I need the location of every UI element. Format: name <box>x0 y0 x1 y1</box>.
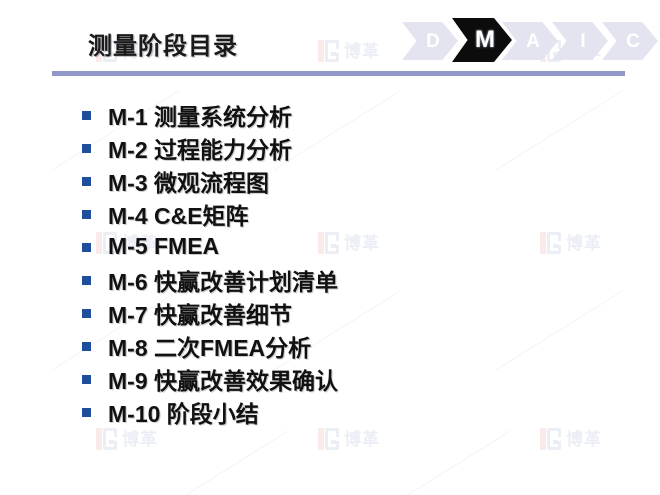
watermark-logo: 博革 <box>318 428 380 450</box>
list-item[interactable]: M-1 测量系统分析 <box>0 98 660 131</box>
title-divider <box>52 71 625 76</box>
slide-header: 测量阶段目录 DMAIC <box>0 0 660 82</box>
bullet-square-icon <box>82 408 91 417</box>
dmaic-phase-m: M <box>452 18 512 62</box>
list-item[interactable]: M-5 FMEA <box>0 230 660 263</box>
dmaic-phase-letter: C <box>620 32 640 51</box>
dmaic-phase-letter: I <box>574 32 585 51</box>
list-item[interactable]: M-9 快赢改善效果确认 <box>0 362 660 395</box>
bullet-square-icon <box>82 276 91 285</box>
list-item-label: M-4 C&E矩阵 <box>108 197 249 230</box>
list-item-label: M-5 FMEA <box>108 230 219 263</box>
dmaic-phase-letter: M <box>469 28 495 52</box>
dmaic-phase-letter: D <box>420 32 440 51</box>
bogekeji-logo-icon <box>318 428 339 450</box>
bullet-square-icon <box>82 375 91 384</box>
dmaic-phase-i: I <box>552 22 608 60</box>
dmaic-phase-letter: A <box>520 32 540 51</box>
list-item[interactable]: M-8 二次FMEA分析 <box>0 329 660 362</box>
list-item[interactable]: M-2 过程能力分析 <box>0 131 660 164</box>
bogekeji-logo-icon <box>96 428 117 450</box>
page-title: 测量阶段目录 <box>88 26 238 61</box>
list-item-label: M-6 快赢改善计划清单 <box>108 263 338 296</box>
watermark-logo: 博革 <box>96 428 158 450</box>
bullet-square-icon <box>82 342 91 351</box>
watermark-text: 博革 <box>566 431 602 448</box>
bullet-square-icon <box>82 210 91 219</box>
bogekeji-logo-icon <box>540 428 561 450</box>
list-item[interactable]: M-7 快赢改善细节 <box>0 296 660 329</box>
list-item-label: M-8 二次FMEA分析 <box>108 329 311 362</box>
presentation-slide: 博革博革博革博革博革博革博革博革博革 测量阶段目录 DMAIC M-1 测量系统… <box>0 0 660 495</box>
list-item-label: M-3 微观流程图 <box>108 164 269 197</box>
watermark-text: 博革 <box>344 431 380 448</box>
watermark-logo: 博革 <box>540 428 602 450</box>
watermark-streak <box>383 430 511 495</box>
bullet-square-icon <box>82 144 91 153</box>
list-item[interactable]: M-3 微观流程图 <box>0 164 660 197</box>
contents-list: M-1 测量系统分析M-2 过程能力分析M-3 微观流程图M-4 C&E矩阵M-… <box>0 98 660 428</box>
watermark-text: 博革 <box>122 431 158 448</box>
list-item-label: M-7 快赢改善细节 <box>108 296 292 329</box>
dmaic-phase-d: D <box>402 22 458 60</box>
list-item[interactable]: M-6 快赢改善计划清单 <box>0 263 660 296</box>
bullet-square-icon <box>82 111 91 120</box>
list-item-label: M-2 过程能力分析 <box>108 131 292 164</box>
list-item-label: M-9 快赢改善效果确认 <box>108 362 338 395</box>
dmaic-phase-c: C <box>602 22 658 60</box>
list-item-label: M-10 阶段小结 <box>108 395 259 428</box>
list-item-label: M-1 测量系统分析 <box>108 98 292 131</box>
watermark-streak <box>161 430 289 495</box>
bullet-square-icon <box>82 309 91 318</box>
bullet-square-icon <box>82 243 91 252</box>
dmaic-phase-banner: DMAIC <box>402 22 652 62</box>
list-item[interactable]: M-10 阶段小结 <box>0 395 660 428</box>
list-item[interactable]: M-4 C&E矩阵 <box>0 197 660 230</box>
bullet-square-icon <box>82 177 91 186</box>
